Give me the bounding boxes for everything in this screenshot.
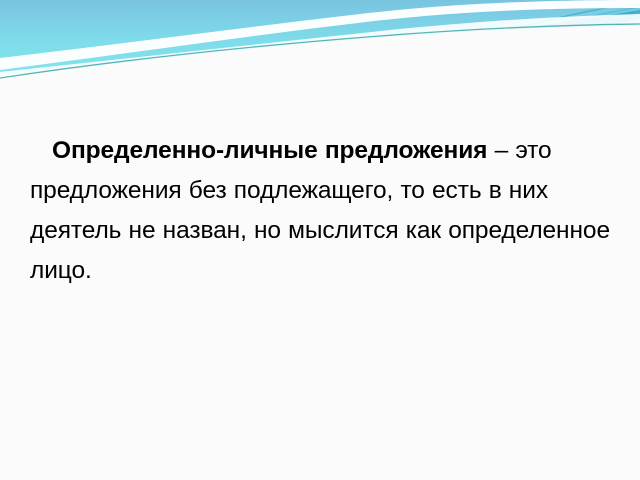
wave-cyan-field (0, 0, 640, 76)
content-area: Определенно-личные предложения – это пре… (30, 131, 610, 291)
wave-accent-band (300, 10, 640, 55)
wave-swoosh-lines (0, 24, 640, 86)
wave-striations (487, 2, 640, 55)
wave-accent-band-2 (296, 22, 640, 58)
slide: Определенно-личные предложения – это пре… (0, 0, 640, 480)
wave-white-ribbon (0, 0, 640, 70)
definition-paragraph: Определенно-личные предложения – это пре… (30, 131, 610, 291)
decorative-wave-banner (0, 0, 640, 90)
wave-white-ribbon-2 (0, 14, 640, 84)
wave-white-base (0, 26, 640, 90)
definition-term: Определенно-личные предложения (52, 137, 487, 164)
